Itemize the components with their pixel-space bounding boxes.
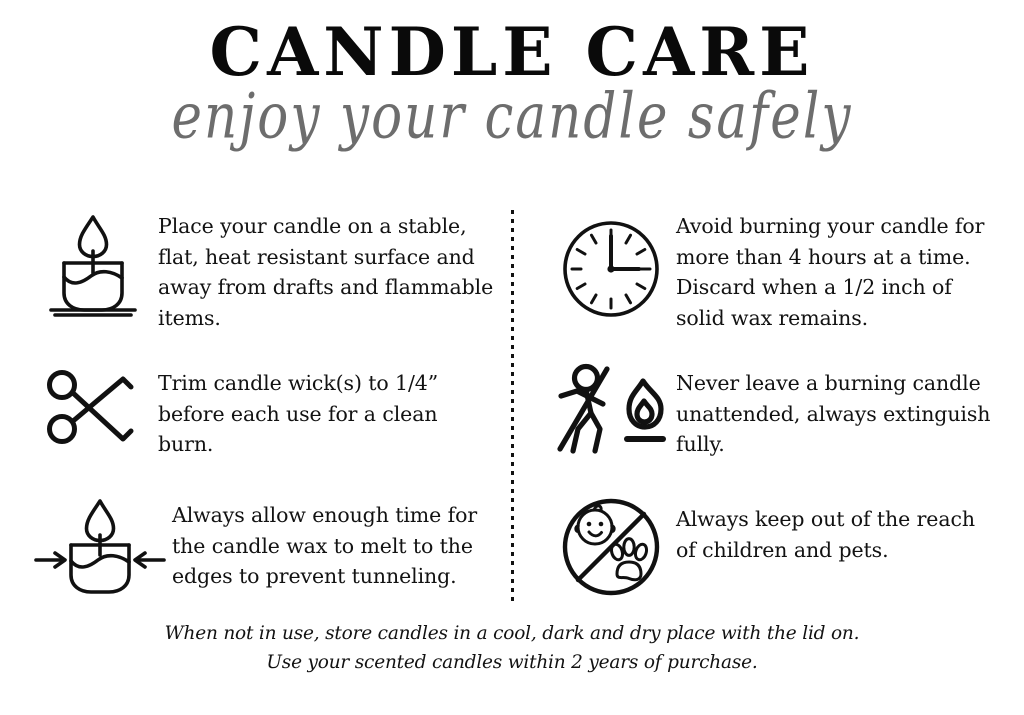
tips-grid: Place your candle on a stable, flat, hea… (0, 206, 1024, 602)
tip-text: Place your candle on a stable, flat, hea… (152, 206, 494, 333)
tip-text: Always allow enough time for the candle … (166, 486, 494, 592)
tip-text: Never leave a burning candle unattended,… (670, 356, 998, 460)
header: CANDLE CARE enjoy your candle safely (0, 0, 1024, 135)
no-children-no-pets-icon (552, 488, 670, 606)
page-subtitle: enjoy your candle safely (0, 85, 1024, 148)
candle-with-inward-arrows-icon (34, 488, 166, 606)
tip-text: Trim candle wick(s) to 1/4” before each … (152, 356, 494, 460)
footer-line-1: When not in use, store candles in a cool… (0, 620, 1024, 649)
tip-item: Avoid burning your candle for more than … (552, 206, 998, 356)
footer-line-2: Use your scented candles within 2 years … (0, 649, 1024, 678)
scissors-icon (34, 350, 152, 468)
tips-column-left: Place your candle on a stable, flat, hea… (0, 206, 512, 602)
candle-care-card: CANDLE CARE enjoy your candle safely (0, 0, 1024, 715)
page-title: CANDLE CARE (0, 18, 1024, 87)
tips-column-right: Avoid burning your candle for more than … (512, 206, 1024, 602)
tip-item: Place your candle on a stable, flat, hea… (34, 206, 494, 356)
person-leaving-fire-icon (552, 352, 670, 470)
tip-text: Avoid burning your candle for more than … (670, 206, 998, 333)
tip-item: Trim candle wick(s) to 1/4” before each … (34, 356, 494, 486)
footer: When not in use, store candles in a cool… (0, 620, 1024, 677)
candle-on-flat-surface-icon (34, 206, 152, 324)
column-divider (511, 210, 514, 602)
tip-item: Always keep out of the reach of children… (552, 486, 998, 602)
tip-item: Always allow enough time for the candle … (34, 486, 494, 602)
tip-text: Always keep out of the reach of children… (670, 486, 998, 565)
tip-item: Never leave a burning candle unattended,… (552, 356, 998, 486)
clock-icon (552, 210, 670, 328)
